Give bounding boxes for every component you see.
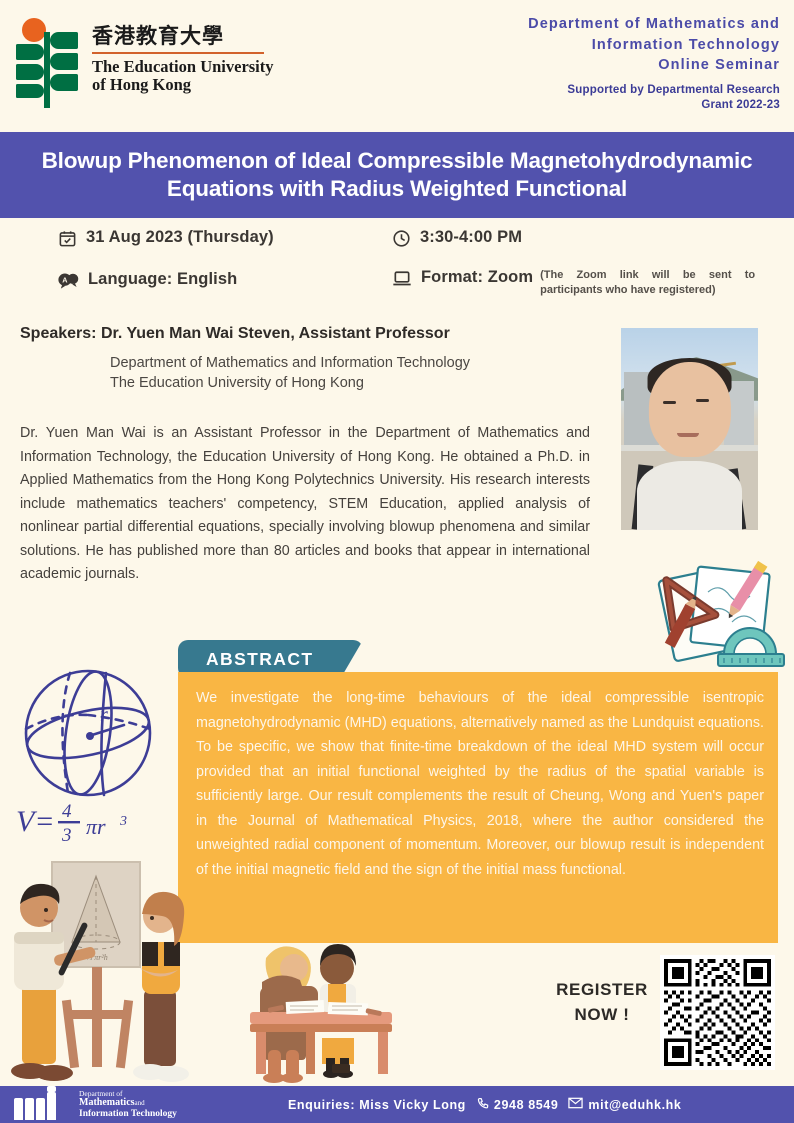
- university-name-cn: 香港教育大學: [92, 26, 274, 47]
- mit-logo-mark-icon: [14, 1090, 72, 1120]
- register-line-2: NOW !: [548, 1003, 656, 1028]
- envelope-icon: [568, 1097, 583, 1112]
- eduhk-logo: 香港教育大學 The Education University of Hong …: [14, 18, 274, 98]
- poster-header: 香港教育大學 The Education University of Hong …: [0, 0, 794, 132]
- teacher-board-illustration-icon: V= ⅓ πr²h: [0, 850, 196, 1090]
- svg-text:4: 4: [62, 801, 72, 822]
- footer-contact: Enquiries: Miss Vicky Long 2948 8549 mit…: [288, 1086, 681, 1123]
- meta-language: A Language: English: [58, 270, 237, 295]
- speech-bubbles-icon: A: [58, 271, 79, 295]
- abstract-text: We investigate the long-time behaviours …: [196, 686, 764, 883]
- title-banner: Blowup Phenomenon of Ideal Compressible …: [0, 132, 794, 218]
- phone-icon: [476, 1097, 489, 1113]
- calendar-check-icon: [58, 229, 77, 253]
- footer-enquiries: Enquiries: Miss Vicky Long: [288, 1098, 466, 1112]
- mit-word-3: Information Technology: [79, 1109, 177, 1119]
- svg-text:πr: πr: [86, 814, 106, 839]
- logo-divider: [92, 52, 264, 54]
- meta-date: 31 Aug 2023 (Thursday): [58, 228, 274, 253]
- meta-time-text: 3:30-4:00 PM: [420, 228, 522, 247]
- mit-word-2-suffix: and: [135, 1099, 145, 1107]
- footer-phone-number: 2948 8549: [494, 1098, 559, 1112]
- eduhk-logo-mark-icon: [14, 18, 78, 98]
- meta-format-text: Format: Zoom: [421, 268, 533, 287]
- tutor-pupil-desk-illustration-icon: [240, 938, 420, 1084]
- university-name-en-line1: The Education University: [92, 58, 274, 76]
- meta-time: 3:30-4:00 PM: [392, 228, 522, 253]
- speaker-name-line: Speakers: Dr. Yuen Man Wai Steven, Assis…: [20, 325, 600, 343]
- meta-format-note: (The Zoom link will be sent to participa…: [540, 268, 755, 298]
- university-name-en-line2: of Hong Kong: [92, 76, 274, 94]
- support-line-2: Grant 2022-23: [528, 98, 780, 113]
- department-line-1: Department of Mathematics and: [528, 14, 780, 35]
- seminar-title: Blowup Phenomenon of Ideal Compressible …: [0, 147, 794, 203]
- svg-text:3: 3: [119, 814, 127, 829]
- register-line-1: REGISTER: [548, 978, 656, 1003]
- meta-format: Format: Zoom (The Zoom link will be sent…: [392, 268, 755, 298]
- mit-department-logo: Department of Mathematicsand Information…: [14, 1090, 177, 1120]
- seminar-poster: 香港教育大學 The Education University of Hong …: [0, 0, 794, 1123]
- footer-email-group: mit@eduhk.hk: [568, 1097, 681, 1112]
- support-line-1: Supported by Departmental Research: [528, 83, 780, 98]
- speaker-affiliation-line2: The Education University of Hong Kong: [110, 373, 600, 393]
- mit-word-2: Mathematics: [79, 1097, 135, 1108]
- meta-date-text: 31 Aug 2023 (Thursday): [86, 228, 274, 247]
- speaker-bio: Dr. Yuen Man Wai is an Assistant Profess…: [20, 422, 590, 587]
- clock-icon: [392, 229, 411, 253]
- speaker-photo: [621, 328, 758, 530]
- sphere-radius-label: r: [100, 704, 108, 726]
- department-line-2: Information Technology: [528, 35, 780, 56]
- svg-text:3: 3: [61, 825, 72, 846]
- speaker-block: Speakers: Dr. Yuen Man Wai Steven, Assis…: [20, 325, 600, 394]
- svg-text:A: A: [62, 275, 68, 284]
- department-block: Department of Mathematics and Informatio…: [528, 14, 780, 113]
- qr-code-icon[interactable]: [660, 955, 775, 1070]
- poster-footer: Department of Mathematicsand Information…: [0, 1086, 794, 1123]
- abstract-tab-label: ABSTRACT: [206, 649, 313, 670]
- seminar-meta: 31 Aug 2023 (Thursday) 3:30-4:00 PM A: [0, 222, 794, 312]
- meta-language-text: Language: English: [88, 270, 237, 289]
- footer-email-address: mit@eduhk.hk: [588, 1098, 681, 1112]
- laptop-icon: [392, 269, 412, 293]
- footer-phone-group: 2948 8549: [476, 1097, 559, 1113]
- svg-text:V=: V=: [16, 805, 55, 838]
- department-line-3: Online Seminar: [528, 55, 780, 76]
- register-callout: REGISTER NOW !: [548, 978, 656, 1027]
- speaker-affiliation-line1: Department of Mathematics and Informatio…: [110, 353, 600, 373]
- stationery-illustration-icon: [636, 556, 791, 674]
- sphere-volume-formula: V= 4 3 πr 3: [14, 797, 154, 841]
